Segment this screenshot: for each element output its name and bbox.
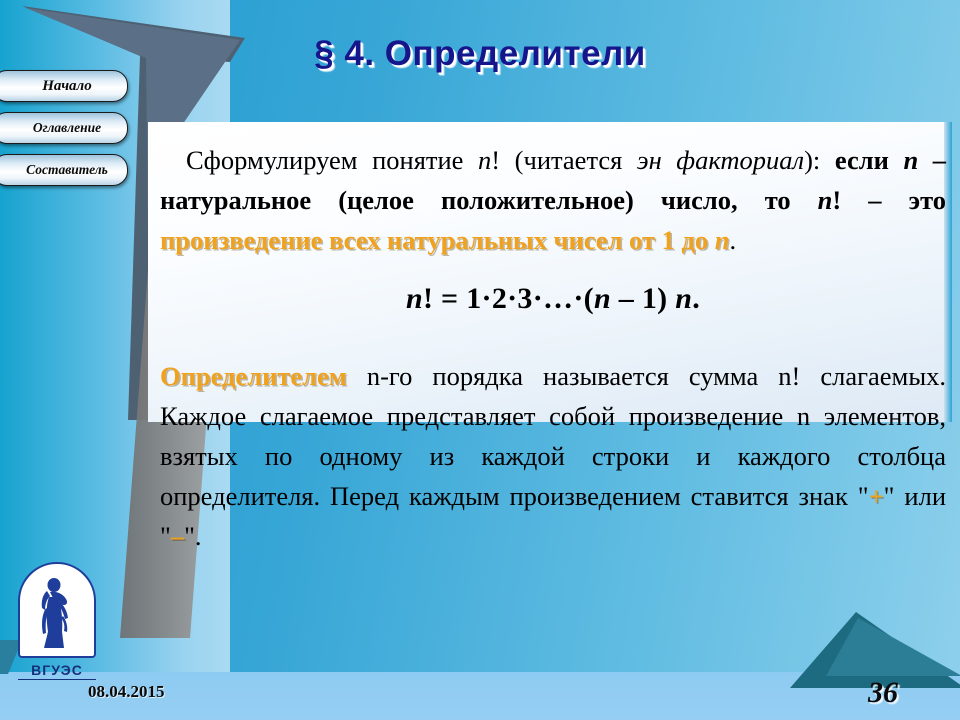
p1-highlight-product: произведение всех натуральных чисел от 1… bbox=[160, 225, 715, 255]
formula-body-1: ! = 1·2·3·…·( bbox=[423, 282, 594, 315]
page-title: § 4. Определители bbox=[0, 34, 960, 74]
sidebar-nav: Начало Оглавление Составитель bbox=[0, 70, 132, 196]
p1-italic-en-factorial: эн факториал bbox=[637, 145, 804, 175]
p1-highlight-var-n: n bbox=[715, 225, 730, 255]
p1-bold-eto: ! – это bbox=[832, 185, 946, 215]
p2-highlight-opredelitelem: Определителем bbox=[160, 361, 347, 391]
p2-sign-plus: + bbox=[869, 481, 884, 511]
nav-label-nachalo: Начало bbox=[28, 78, 92, 95]
formula-body-2: – 1) bbox=[611, 282, 675, 315]
nav-button-oglavlenie[interactable]: Оглавление bbox=[0, 112, 128, 144]
p1-seg2: ! (читается bbox=[491, 145, 637, 175]
p2-quote-open-1: " bbox=[858, 481, 869, 511]
p2-final-period: . bbox=[195, 521, 202, 551]
p1-var-n-3: n bbox=[818, 185, 833, 215]
classical-figure-icon bbox=[33, 574, 81, 654]
p2-sign-minus: – bbox=[171, 521, 184, 551]
p1-var-n-2: n bbox=[903, 145, 918, 175]
paragraph-factorial-definition: Сформулируем понятие n! (читается эн фак… bbox=[160, 140, 946, 260]
formula-period: . bbox=[692, 282, 700, 315]
slide-body: Сформулируем понятие n! (читается эн фак… bbox=[160, 140, 946, 556]
formula-factorial: n! = 1·2·3·…·(n – 1) n. bbox=[160, 282, 946, 316]
slide-canvas: § 4. Определители Начало Оглавление Сост… bbox=[0, 0, 960, 720]
formula-lhs-var: n bbox=[406, 282, 423, 315]
formula-mid-var: n bbox=[594, 282, 611, 315]
paragraph-determinant-definition: Определителем n-го порядка называется су… bbox=[160, 356, 946, 556]
p2-quote-close-2: " bbox=[184, 521, 195, 551]
nav-label-oglavlenie: Оглавление bbox=[19, 120, 101, 136]
formula-end-var: n bbox=[675, 282, 692, 315]
logo-arch-shape bbox=[18, 562, 96, 658]
p1-seg1: Сформулируем понятие bbox=[186, 145, 478, 175]
nav-label-sostavitel: Составитель bbox=[12, 162, 108, 178]
p2-quote-close-1: " bbox=[884, 481, 895, 511]
logo-text: ВГУЭС bbox=[18, 662, 96, 680]
p2-or: или bbox=[895, 481, 947, 511]
p2-quote-open-2: " bbox=[160, 521, 171, 551]
p1-seg3: ): bbox=[804, 145, 835, 175]
slide-page-number: 36 bbox=[868, 676, 898, 710]
nav-button-sostavitel[interactable]: Составитель bbox=[0, 154, 128, 186]
nav-button-nachalo[interactable]: Начало bbox=[0, 70, 128, 102]
p1-bold-esli: если bbox=[835, 145, 904, 175]
p1-seg4: . bbox=[730, 225, 737, 255]
slide-date: 08.04.2015 bbox=[88, 682, 165, 702]
p1-var-n-1: n bbox=[478, 145, 491, 175]
vgues-logo: ВГУЭС bbox=[12, 562, 108, 692]
